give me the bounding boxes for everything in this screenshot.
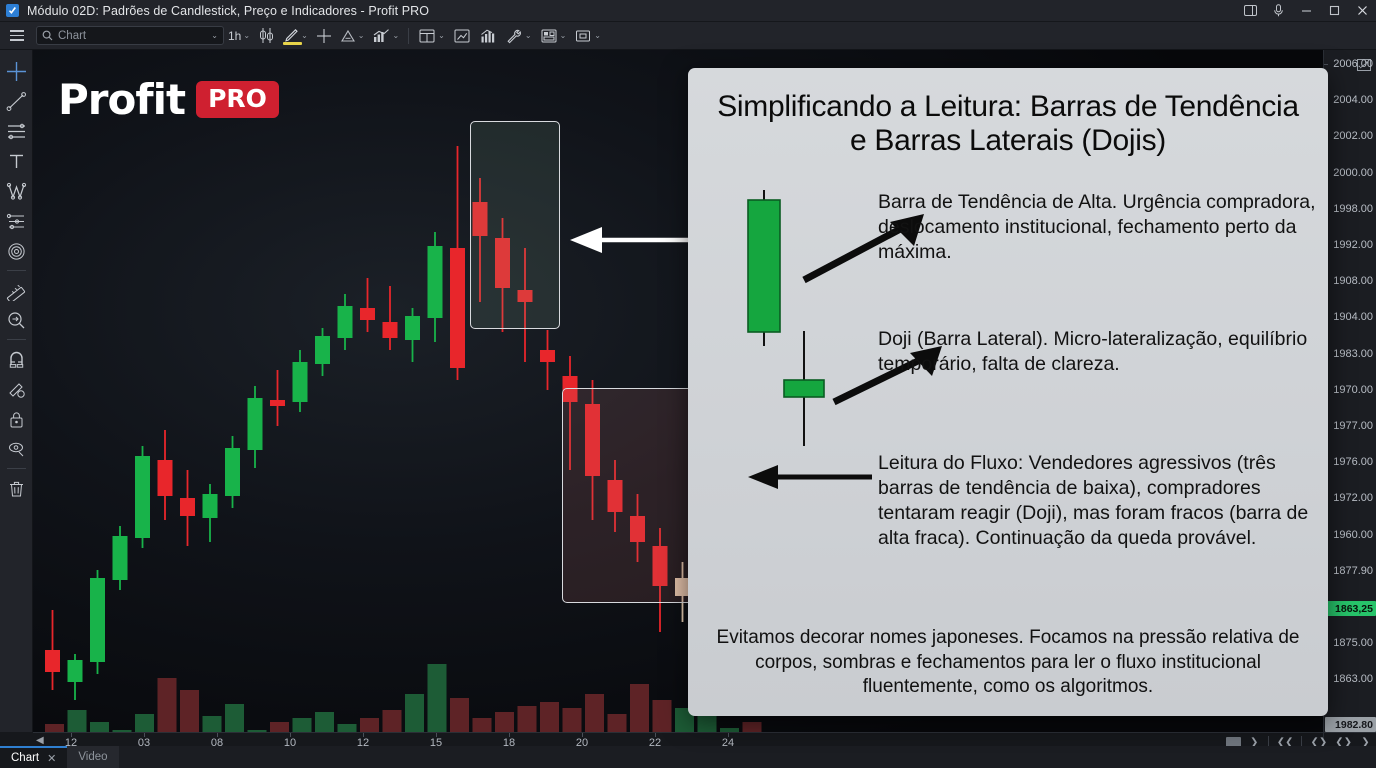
hamburger-menu-icon[interactable] xyxy=(4,23,30,49)
minimize-button[interactable] xyxy=(1292,0,1320,22)
doji-note: Doji (Barra Lateral). Micro-lateralizaçã… xyxy=(878,327,1320,377)
price-tick-label: 2004.00 xyxy=(1333,94,1373,106)
overlay-title: Simplificando a Leitura: Barras de Tendê… xyxy=(704,84,1312,158)
lesson-overlay-panel: Simplificando a Leitura: Barras de Tendê… xyxy=(688,68,1328,716)
volume-bar xyxy=(473,718,492,732)
volume-bar xyxy=(608,714,627,732)
candle-body xyxy=(360,308,375,320)
toolbar-divider xyxy=(408,28,409,44)
alert-triangle-icon[interactable]: ⌄ xyxy=(336,22,369,50)
volume-bar xyxy=(360,718,379,732)
horizontal-lines-tool[interactable] xyxy=(2,116,31,146)
price-tick-label: 1960.00 xyxy=(1333,529,1373,541)
volume-bar xyxy=(563,708,582,732)
candle-body xyxy=(68,660,83,682)
timeframe-selector[interactable]: 1h ⌄ xyxy=(224,22,254,50)
wrench-tools-icon[interactable]: ⌄ xyxy=(501,22,536,50)
pencil-draw-icon[interactable]: ⌄ xyxy=(279,22,312,50)
magnet-tool[interactable] xyxy=(2,344,31,374)
candle-body xyxy=(338,306,353,338)
bottom-tab-bar: Chart ✕ Video xyxy=(0,746,1376,768)
gann-circle-tool[interactable] xyxy=(2,236,31,266)
volume-bar xyxy=(270,722,289,732)
multi-draw-tool[interactable] xyxy=(2,374,31,404)
chevron-down-icon[interactable]: ⌄ xyxy=(560,32,567,40)
candle-body xyxy=(293,362,308,402)
price-tick-label: 2000.00 xyxy=(1333,167,1373,179)
price-tick-label: 1875.00 xyxy=(1333,637,1373,649)
layout-panel-button[interactable] xyxy=(1236,0,1264,22)
volume-bar xyxy=(90,722,109,732)
chevron-down-icon[interactable]: ⌄ xyxy=(438,32,445,40)
fibonacci-tool[interactable] xyxy=(2,176,31,206)
volume-bar xyxy=(68,710,87,732)
price-tick-label: 1983.00 xyxy=(1333,348,1373,360)
candle-body xyxy=(180,498,195,516)
tab-chart[interactable]: Chart ✕ xyxy=(0,746,67,768)
profit-pro-window: Módulo 02D: Padrões de Candlestick, Preç… xyxy=(0,0,1376,768)
volume-bar xyxy=(135,714,154,732)
volume-bar xyxy=(585,694,604,732)
candle-body xyxy=(405,316,420,340)
price-tick-label: 1970.00 xyxy=(1333,384,1373,396)
volume-bar xyxy=(698,716,717,732)
candle-body xyxy=(383,322,398,338)
main-toolbar: Chart ⌄ 1h ⌄ ⌄ ⌄ xyxy=(0,22,1376,50)
candle-body xyxy=(248,398,263,450)
tab-video-label: Video xyxy=(78,751,107,763)
templates-icon[interactable]: ⌄ xyxy=(536,22,571,50)
candle-body xyxy=(225,448,240,496)
chevron-down-icon[interactable]: ⌄ xyxy=(301,32,308,40)
candle-body xyxy=(203,494,218,518)
search-input[interactable]: Chart ⌄ xyxy=(36,26,224,45)
text-tool[interactable] xyxy=(2,146,31,176)
chevron-down-icon[interactable]: ⌄ xyxy=(358,32,365,40)
candle-body xyxy=(450,248,465,368)
tab-chart-label: Chart xyxy=(11,752,39,764)
volume-bars-icon[interactable] xyxy=(475,22,501,50)
volume-bar xyxy=(518,706,537,732)
price-tick-label: 1908.00 xyxy=(1333,275,1373,287)
volume-bar xyxy=(338,724,357,732)
order-flow-note: Leitura do Fluxo: Vendedores agressivos … xyxy=(878,451,1320,551)
timeframe-label: 1h xyxy=(228,29,241,43)
trendline-tool[interactable] xyxy=(2,86,31,116)
window-controls xyxy=(1236,0,1376,22)
scroll-left-button[interactable]: ◀ xyxy=(36,735,44,746)
volume-bar xyxy=(293,718,312,732)
volume-bar xyxy=(495,712,514,732)
overlay-footer-note: Evitamos decorar nomes japoneses. Focamo… xyxy=(704,626,1312,700)
candle-body xyxy=(270,400,285,406)
maximize-button[interactable] xyxy=(1320,0,1348,22)
candle-body xyxy=(135,456,150,538)
candle-body xyxy=(158,460,173,496)
brand-name: Profit xyxy=(58,75,185,124)
table-window-icon[interactable]: ⌄ xyxy=(414,22,449,50)
price-axis[interactable]: 2006.002004.002002.002000.001998.001992.… xyxy=(1323,50,1376,732)
candle-body xyxy=(113,536,128,580)
candle-type-icon[interactable] xyxy=(254,22,279,50)
toolbar-items: 1h ⌄ ⌄ ⌄ ⌄ xyxy=(224,22,605,50)
bearish-trend-highlight[interactable] xyxy=(470,121,560,329)
order-flow-arrow-icon xyxy=(744,460,874,494)
close-icon[interactable]: ✕ xyxy=(47,752,56,765)
candle-body xyxy=(540,350,555,362)
volume-bar xyxy=(743,722,762,732)
chart-window-icon[interactable] xyxy=(449,22,475,50)
volume-bar xyxy=(450,698,469,732)
last-price-badge: 1863,25 xyxy=(1325,601,1376,616)
rail-divider xyxy=(7,468,26,469)
chevron-down-icon[interactable]: ⌄ xyxy=(243,32,250,40)
volume-bar xyxy=(540,702,559,732)
search-icon xyxy=(42,30,53,41)
tab-video[interactable]: Video xyxy=(67,746,118,768)
price-tick-label: 1877.90 xyxy=(1333,565,1373,577)
settings-box-icon[interactable]: ⌄ xyxy=(570,22,605,50)
candle-body xyxy=(90,578,105,662)
doji-candle xyxy=(776,328,836,453)
indicators-bars-icon[interactable]: ⌄ xyxy=(368,22,403,50)
chevron-down-icon[interactable]: ⌄ xyxy=(211,32,218,40)
chevron-down-icon[interactable]: ⌄ xyxy=(525,32,532,40)
price-tick-label: 2006.00 xyxy=(1333,58,1373,70)
lock-drawings-tool[interactable] xyxy=(2,404,31,434)
chevron-down-icon[interactable]: ⌄ xyxy=(594,32,601,40)
hide-drawings-tool[interactable] xyxy=(2,434,31,464)
marker-price-badge: 1982.80 xyxy=(1325,717,1376,732)
title-bar: Módulo 02D: Padrões de Candlestick, Preç… xyxy=(0,0,1376,22)
volume-bar xyxy=(630,684,649,732)
price-tick xyxy=(1324,64,1328,65)
volume-bar xyxy=(653,700,672,732)
price-tick-label: 1972.00 xyxy=(1333,492,1373,504)
pitchfork-tool[interactable] xyxy=(2,206,31,236)
bullish-trend-bar-note: Barra de Tendência de Alta. Urgência com… xyxy=(878,190,1320,265)
rail-divider xyxy=(7,339,26,340)
window-title: Módulo 02D: Padrões de Candlestick, Preç… xyxy=(27,4,429,18)
price-tick-label: 1976.00 xyxy=(1333,456,1373,468)
volume-bar xyxy=(405,694,424,732)
volume-bar xyxy=(203,716,222,732)
rail-divider xyxy=(7,270,26,271)
close-button[interactable] xyxy=(1348,0,1376,22)
chevron-down-icon[interactable]: ⌄ xyxy=(392,32,399,40)
trash-tool[interactable] xyxy=(2,473,31,503)
candle-body xyxy=(315,336,330,364)
watermark-brand: Profit PRO xyxy=(58,75,279,124)
price-tick-label: 1992.00 xyxy=(1333,239,1373,251)
price-tick-label: 1998.00 xyxy=(1333,203,1373,215)
price-tick-label: 2002.00 xyxy=(1333,130,1373,142)
volume-bar xyxy=(383,710,402,732)
crosshair-tool[interactable] xyxy=(2,56,31,86)
volume-bar xyxy=(180,690,199,732)
crosshair-icon[interactable] xyxy=(312,22,336,50)
volume-bar xyxy=(315,712,334,732)
brand-badge: PRO xyxy=(196,81,279,118)
ruler-tool[interactable] xyxy=(2,275,31,305)
price-tick-label: 1977.00 xyxy=(1333,420,1373,432)
active-tool-underline xyxy=(283,42,302,45)
volume-bar xyxy=(428,664,447,732)
search-value: Chart xyxy=(58,30,206,42)
candle-body xyxy=(428,246,443,318)
drawing-tools-rail xyxy=(0,50,33,732)
volume-bar xyxy=(158,678,177,732)
volume-bars xyxy=(45,664,762,732)
volume-bar xyxy=(45,724,64,732)
zoom-tool[interactable] xyxy=(2,305,31,335)
microphone-button[interactable] xyxy=(1264,0,1292,22)
candle-body xyxy=(45,650,60,672)
volume-bar xyxy=(225,704,244,732)
price-tick-label: 1904.00 xyxy=(1333,311,1373,323)
price-tick-label: 1863.00 xyxy=(1333,673,1373,685)
app-icon xyxy=(6,4,19,17)
